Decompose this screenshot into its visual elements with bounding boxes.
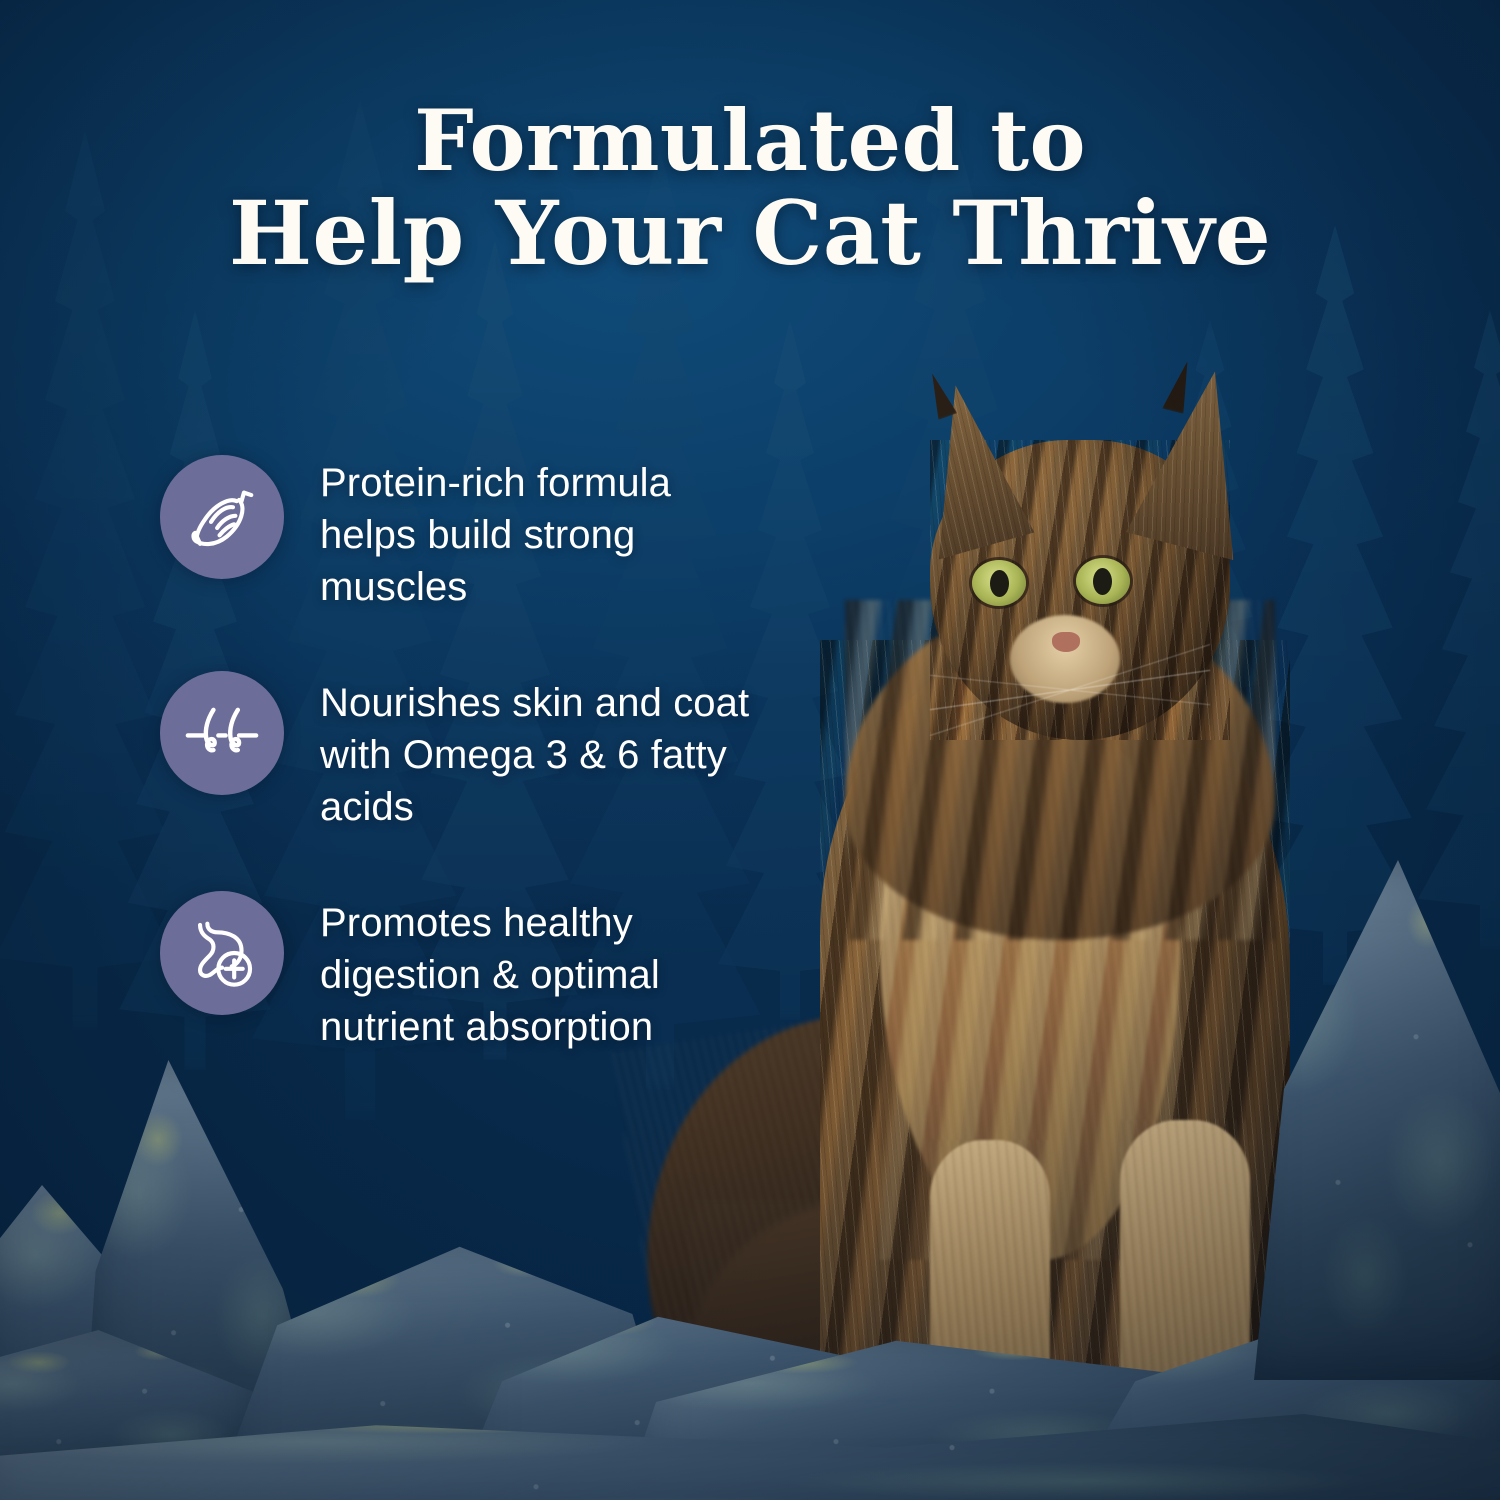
- hair-follicle-skin-icon: [160, 671, 284, 795]
- benefits-list: Protein-rich formula helps build strong …: [160, 455, 760, 1053]
- list-item: Protein-rich formula helps build strong …: [160, 455, 760, 613]
- list-item: Nourishes skin and coat with Omega 3 & 6…: [160, 671, 760, 833]
- stomach-plus-icon: [160, 891, 284, 1015]
- product-feature-banner: Formulated to Help Your Cat Thrive Prote…: [0, 0, 1500, 1500]
- page-title: Formulated to Help Your Cat Thrive: [0, 96, 1500, 280]
- list-item-label: Nourishes skin and coat with Omega 3 & 6…: [320, 671, 760, 833]
- page-title-line-2: Help Your Cat Thrive: [0, 186, 1500, 280]
- list-item-label: Protein-rich formula helps build strong …: [320, 455, 760, 613]
- list-item-label: Promotes healthy digestion & optimal nut…: [320, 891, 760, 1053]
- list-item: Promotes healthy digestion & optimal nut…: [160, 891, 760, 1053]
- muscle-icon: [160, 455, 284, 579]
- page-title-line-1: Formulated to: [0, 96, 1500, 186]
